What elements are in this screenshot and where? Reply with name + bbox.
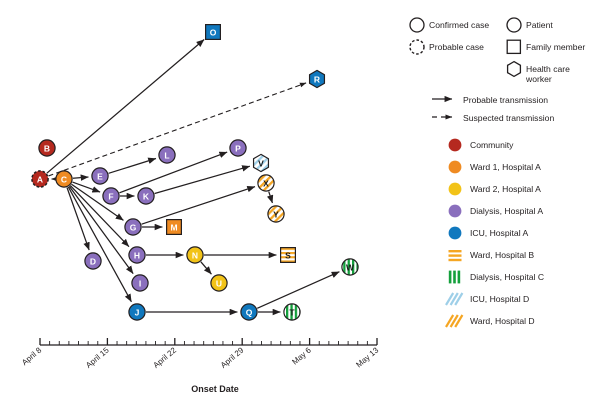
legend-label-confirmed: Confirmed case: [429, 20, 489, 30]
legend-icon-dialysisc: [448, 270, 464, 284]
legend-shape-probable: [410, 40, 424, 54]
legend-swatch-community: [449, 139, 462, 152]
legend-icon-suspected-transmission: [432, 112, 458, 122]
axis-tick-label: April 15: [84, 345, 111, 370]
legend-label-ward2a: Ward 2, Hospital A: [470, 184, 541, 194]
legend-icon-wardb: [448, 248, 464, 262]
axis-tick-label: April 8: [20, 345, 44, 367]
legend-icon-icud: [448, 292, 464, 306]
legend-icon-community: [448, 138, 464, 152]
legend-label-icud: ICU, Hospital D: [470, 294, 529, 304]
legend-icon-ward2a: [448, 182, 464, 196]
legend-swatch-wardb-bar-2: [449, 259, 462, 261]
legend-icon-probable-transmission: [432, 94, 458, 104]
legend-icon-dialysisa: [448, 204, 464, 218]
axis-tick-label: May 13: [354, 345, 380, 369]
legend-label-hcw: Health care worker: [526, 64, 598, 84]
legend-swatch-dialysisc-bar-0: [449, 271, 452, 284]
axis-tick-label: May 6: [290, 345, 313, 366]
axis-tick-label: April 22: [152, 345, 179, 370]
legend-icon-hcw: [506, 61, 522, 77]
legend-label-ward1a: Ward 1, Hospital A: [470, 162, 541, 172]
legend-label-wardd: Ward, Hospital D: [470, 316, 535, 326]
legend-swatch-ward2a: [449, 183, 462, 196]
legend-label-dialysisc: Dialysis, Hospital C: [470, 272, 544, 282]
legend-shape-family: [507, 40, 520, 53]
legend-label-patient: Patient: [526, 20, 598, 30]
legend-label-community: Community: [470, 140, 513, 150]
legend-icon-family: [506, 39, 522, 55]
axis-tick-label: April 29: [219, 345, 246, 370]
legend-label-dialysisa: Dialysis, Hospital A: [470, 206, 543, 216]
axis-title: Onset Date: [191, 384, 239, 394]
legend-label-wardb: Ward, Hospital B: [470, 250, 534, 260]
legend-swatch-wardb-bar-0: [449, 250, 462, 252]
legend-shape-patient: [507, 18, 521, 32]
legend-label-suspected-transmission: Suspected transmission: [463, 113, 554, 123]
legend-icon-confirmed: [409, 17, 425, 33]
legend-icon-ward1a: [448, 160, 464, 174]
legend-swatch-dialysisc-bar-2: [458, 271, 461, 284]
legend-shape-confirmed: [410, 18, 424, 32]
onset-date-axis: April 8April 15April 22April 29May 6May …: [0, 0, 600, 400]
legend-swatch-wardb-bar-1: [449, 254, 462, 256]
legend-label-icua: ICU, Hospital A: [470, 228, 528, 238]
legend-swatch-dialysisc-bar-1: [453, 271, 456, 284]
legend-shape-hcw: [508, 62, 521, 77]
legend-swatch-dialysisa: [449, 205, 462, 218]
figure-canvas: BACORELPFKVXYGMDHNSUIJQTW April 8April 1…: [0, 0, 600, 400]
legend-icon-patient: [506, 17, 522, 33]
legend-icon-icua: [448, 226, 464, 240]
legend-swatch-ward1a: [449, 161, 462, 174]
legend-icon-wardd: [448, 314, 464, 328]
legend-icon-probable: [409, 39, 425, 55]
legend-label-probable: Probable case: [429, 42, 484, 52]
legend-label-family: Family member: [526, 42, 598, 52]
legend-swatch-icua: [449, 227, 462, 240]
legend-label-probable-transmission: Probable transmission: [463, 95, 548, 105]
